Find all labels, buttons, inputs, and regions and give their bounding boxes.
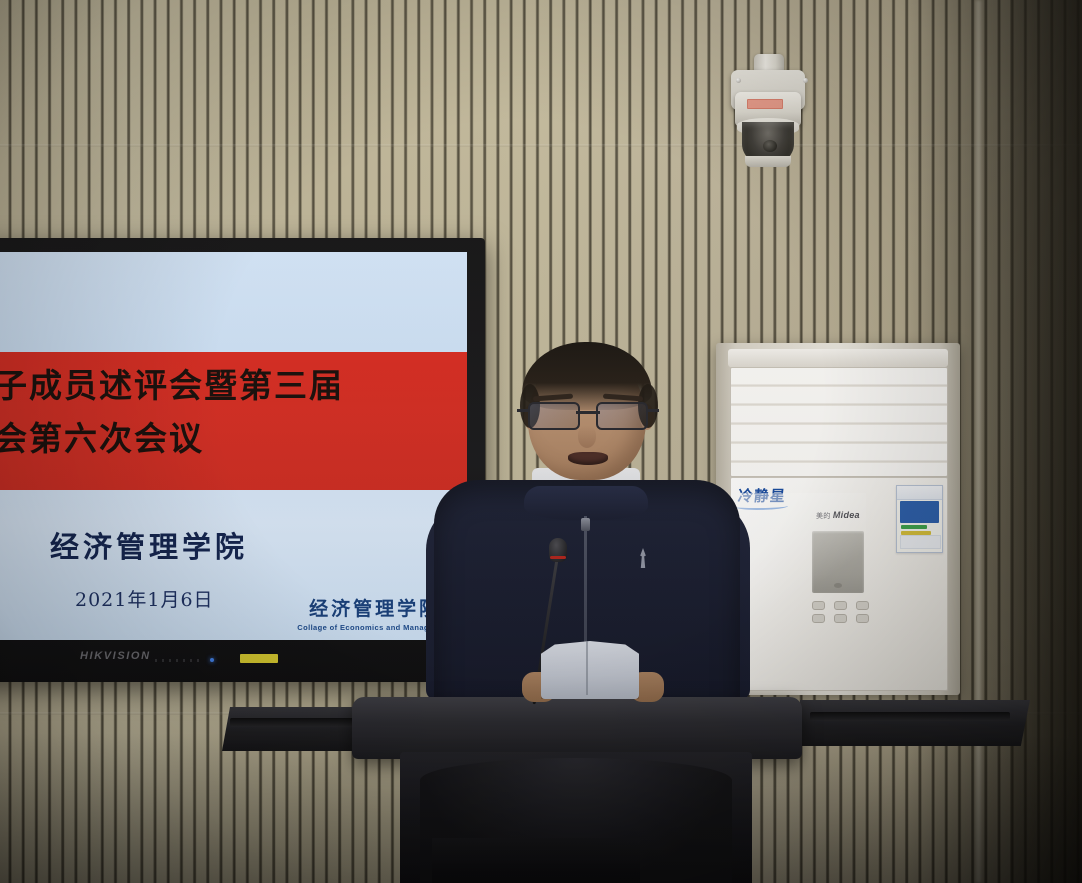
energy-label-header (897, 486, 942, 500)
slide-date: 2021年1月6日 (75, 585, 214, 612)
ac-top-cap (728, 349, 948, 367)
energy-label-title-band (900, 501, 939, 523)
ac-maker-en: Midea (833, 510, 860, 520)
camera-lens-icon (763, 140, 777, 152)
display-vent-dots (155, 659, 199, 662)
ac-button-4[interactable] (812, 614, 825, 623)
ac-button-2[interactable] (834, 601, 847, 610)
podium-right-wing-edge (810, 712, 1010, 721)
podium-stem (432, 838, 640, 883)
camera-screw-right (803, 78, 808, 83)
speech-papers (541, 641, 639, 699)
glasses-icon (528, 402, 648, 428)
ac-air-outlet-grille (730, 367, 948, 477)
display-brand-label: HIKVISION (80, 650, 151, 662)
ac-button-5[interactable] (834, 614, 847, 623)
display-power-led (210, 658, 214, 662)
ac-maker-cn: 美的 (816, 513, 831, 520)
display-warning-sticker (240, 654, 278, 663)
podium-right-wing (800, 700, 1030, 746)
presentation-display: 和班子成员述评会暨第三届 教代会第六次会议 经济管理学院 2021年1月6日 经… (0, 238, 485, 682)
ac-control-buttons[interactable] (812, 601, 868, 625)
ac-maker-label: 美的 Midea (816, 510, 860, 521)
wall-pillar-highlight (975, 0, 982, 883)
camera-foot (745, 156, 791, 167)
mouth (568, 452, 608, 465)
slide-title-line-1: 和班子成员述评会暨第三届 (0, 359, 344, 407)
slide-screen: 和班子成员述评会暨第三届 教代会第六次会议 经济管理学院 2021年1月6日 经… (0, 252, 467, 640)
glasses-bridge (576, 411, 600, 414)
ac-button-3[interactable] (856, 601, 869, 610)
energy-bar-green (901, 525, 927, 529)
glasses-lens-right (596, 402, 648, 430)
nose (578, 426, 596, 448)
ac-display-indicator (834, 583, 842, 588)
dome-camera (723, 52, 821, 170)
wall-pillar-dark (1010, 0, 1082, 883)
camera-label-sticker (747, 99, 783, 109)
microphone-accent-ring (550, 556, 566, 559)
jacket-zipper-pull (581, 518, 590, 531)
glasses-temple-left (517, 409, 529, 412)
slide-organization: 经济管理学院 (50, 524, 248, 566)
slide-title-line-2: 教代会第六次会议 (0, 412, 204, 460)
ac-button-1[interactable] (812, 601, 825, 610)
air-conditioner: 冷静星 美的 Midea (716, 343, 960, 695)
papers-fold-line (586, 641, 588, 695)
glasses-temple-right (647, 409, 659, 412)
ac-energy-label (896, 485, 943, 553)
jacket-collar (524, 486, 648, 520)
energy-label-footer (900, 535, 941, 549)
glasses-lens-left (528, 402, 580, 430)
ac-button-6[interactable] (856, 614, 869, 623)
podium-top-surface (352, 697, 802, 759)
meeting-photo-scene: 冷静星 美的 Midea (0, 0, 1082, 883)
camera-screw-left (736, 78, 741, 83)
